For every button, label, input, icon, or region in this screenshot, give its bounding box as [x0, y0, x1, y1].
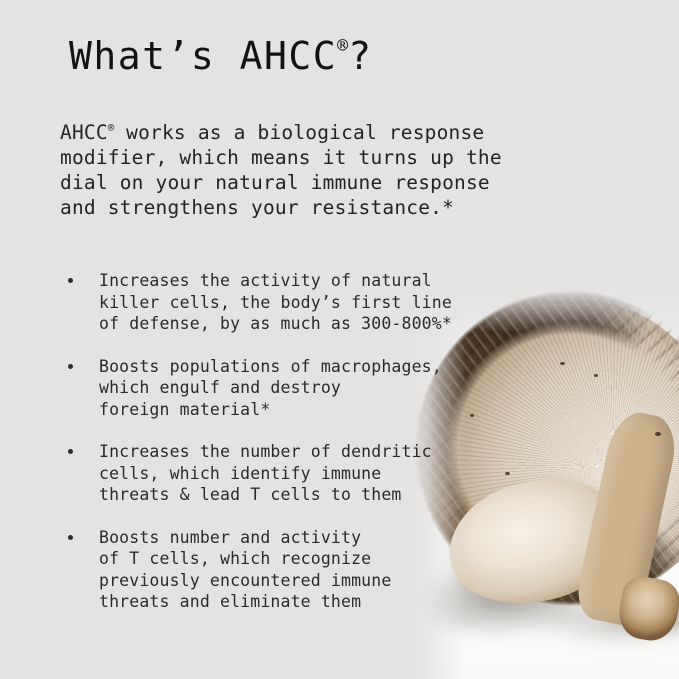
list-item: Boosts populations of macrophages, which…: [60, 356, 500, 421]
intro-paragraph: AHCC® works as a biological response mod…: [60, 115, 580, 220]
list-item: Increases the number of dendritic cells,…: [60, 441, 500, 506]
intro-lead: AHCC: [60, 121, 108, 144]
bullet-dot-icon: [68, 449, 73, 454]
list-item-text: Increases the number of dendritic cells,…: [99, 442, 432, 504]
list-item-text: Boosts populations of macrophages, which…: [99, 357, 442, 419]
bullet-dot-icon: [68, 278, 73, 283]
content-layer: What’s AHCC®? AHCC® works as a biologica…: [0, 0, 679, 679]
bullet-dot-icon: [68, 535, 73, 540]
bullet-dot-icon: [68, 364, 73, 369]
list-item-text: Increases the activity of natural killer…: [99, 271, 452, 333]
page-title-text-after: ?: [348, 34, 372, 78]
page-title: What’s AHCC®?: [69, 34, 373, 78]
list-item-text: Boosts number and activity of T cells, w…: [99, 528, 391, 612]
list-item: Boosts number and activity of T cells, w…: [60, 527, 500, 613]
benefits-list: Increases the activity of natural killer…: [60, 270, 500, 634]
list-item: Increases the activity of natural killer…: [60, 270, 500, 335]
product-info-panel: What’s AHCC®? AHCC® works as a biologica…: [0, 0, 679, 679]
page-title-text-before: What’s AHCC: [69, 34, 337, 78]
registered-trademark-icon: ®: [337, 36, 348, 57]
intro-body: works as a biological response modifier,…: [60, 121, 502, 219]
